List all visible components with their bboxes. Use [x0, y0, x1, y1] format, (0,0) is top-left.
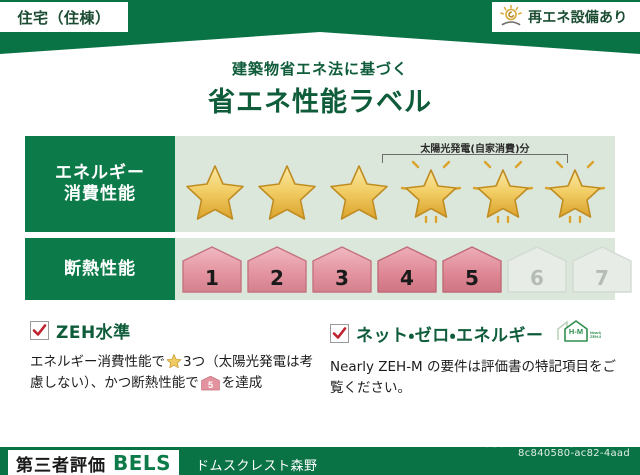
energy-performance-row: エネルギー 消費性能 太陽光発電(自家消費)分 — [25, 136, 615, 232]
bels-label: BELS — [113, 451, 171, 475]
energy-label-line2: 消費性能 — [64, 184, 136, 205]
star-4-solar — [399, 158, 463, 226]
svg-text:ZEH-M: ZEH-M — [590, 334, 601, 339]
renewable-equipment-tag: 再エネ設備あり — [492, 2, 640, 32]
insulation-grade-4: 4 — [376, 244, 438, 294]
svg-text:H-M: H-M — [568, 327, 582, 336]
insulation-grade-2: 2 — [246, 244, 308, 294]
insulation-performance-label-box: 断熱性能 — [25, 238, 175, 300]
insulation-grade-1-value: 1 — [205, 266, 219, 290]
insulation-grade-1: 1 — [181, 244, 243, 294]
insulation-grade-2-value: 2 — [270, 266, 284, 290]
insulation-label: 断熱性能 — [64, 259, 136, 280]
energy-label-line1: エネルギー — [55, 163, 145, 184]
insulation-performance-row: 断熱性能 1 2 — [25, 238, 615, 300]
energy-performance-label-box: エネルギー 消費性能 — [25, 136, 175, 232]
renewable-equipment-label: 再エネ設備あり — [528, 7, 627, 27]
insulation-grade-6-value: 6 — [530, 266, 544, 290]
insulation-grade-scale: 1 2 3 — [181, 244, 633, 294]
zeh-standard-block: ZEH水準 エネルギー消費性能で3つ（太陽光発電は考慮しない）、かつ断熱性能で5… — [30, 318, 320, 398]
insulation-grade-7-value: 7 — [595, 266, 609, 290]
insulation-grade-3-value: 3 — [335, 266, 349, 290]
insulation-grade-6: 6 — [506, 244, 568, 294]
zeh-m-logo-icon: H-M Nearly ZEH-M — [555, 318, 601, 348]
insulation-rating-area: 1 2 3 — [175, 238, 615, 300]
zeh-desc-part3: を達成 — [222, 375, 263, 391]
net-zero-energy-description: Nearly ZEH-M の要件は評価書の特記項目をご覧ください。 — [330, 357, 626, 399]
star-rating — [175, 156, 615, 228]
insulation-grade-5: 5 — [441, 244, 503, 294]
star-1 — [183, 158, 247, 226]
bels-badge: 第三者評価 BELS — [8, 450, 179, 475]
star-5-solar — [471, 158, 535, 226]
solar-generation-note: 太陽光発電(自家消費)分 — [380, 140, 570, 155]
sun-renewable-icon — [498, 4, 524, 30]
zeh-standard-checkbox[interactable] — [30, 321, 49, 340]
evaluation-id: 8c840580-ac82-4aad — [518, 448, 630, 459]
label-footer: 第三者評価 BELS ドムスクレスト森野 評価日 2025年9月26日 8c84… — [0, 447, 640, 475]
building-name: ドムスクレスト森野 — [196, 455, 318, 474]
insulation-grade-4-value: 4 — [400, 266, 414, 290]
net-zero-energy-header: ネット・ゼロ・エネルギー H-M Nearly ZEH-M — [330, 318, 626, 348]
zeh-standard-description: エネルギー消費性能で3つ（太陽光発電は考慮しない）、かつ断熱性能で5を達成 — [30, 352, 320, 398]
star-6-solar — [543, 158, 607, 226]
inline-house-grade-icon: 5 — [201, 379, 220, 395]
zeh-desc-part1: エネルギー消費性能で — [30, 354, 165, 370]
zeh-standard-title: ZEH水準 — [56, 318, 131, 343]
net-zero-energy-title: ネット・ゼロ・エネルギー — [356, 321, 544, 346]
energy-rating-area: 太陽光発電(自家消費)分 — [175, 136, 615, 232]
insulation-grade-5-value: 5 — [465, 266, 479, 290]
zeh-standard-header: ZEH水準 — [30, 318, 320, 343]
third-party-eval-label: 第三者評価 — [16, 451, 106, 475]
star-2 — [255, 158, 319, 226]
housing-type-label: 住宅（住棟） — [17, 7, 110, 28]
star-3 — [327, 158, 391, 226]
net-zero-energy-checkbox[interactable] — [330, 324, 349, 343]
insulation-grade-7: 7 — [571, 244, 633, 294]
label-subtitle: 建築物省エネ法に基づく — [0, 58, 640, 79]
energy-performance-label: 住宅（住棟） 再エネ設備あり 建築物省エネ法に基づく 省エネ性能ラベル — [0, 0, 640, 475]
insulation-grade-3: 3 — [311, 244, 373, 294]
housing-type-tag: 住宅（住棟） — [0, 2, 128, 32]
svg-text:5: 5 — [208, 380, 213, 390]
page-title: 省エネ性能ラベル — [0, 80, 640, 119]
net-zero-energy-block: ネット・ゼロ・エネルギー H-M Nearly ZEH-M Nearly ZEH… — [330, 318, 626, 399]
inline-star-icon — [166, 353, 182, 369]
